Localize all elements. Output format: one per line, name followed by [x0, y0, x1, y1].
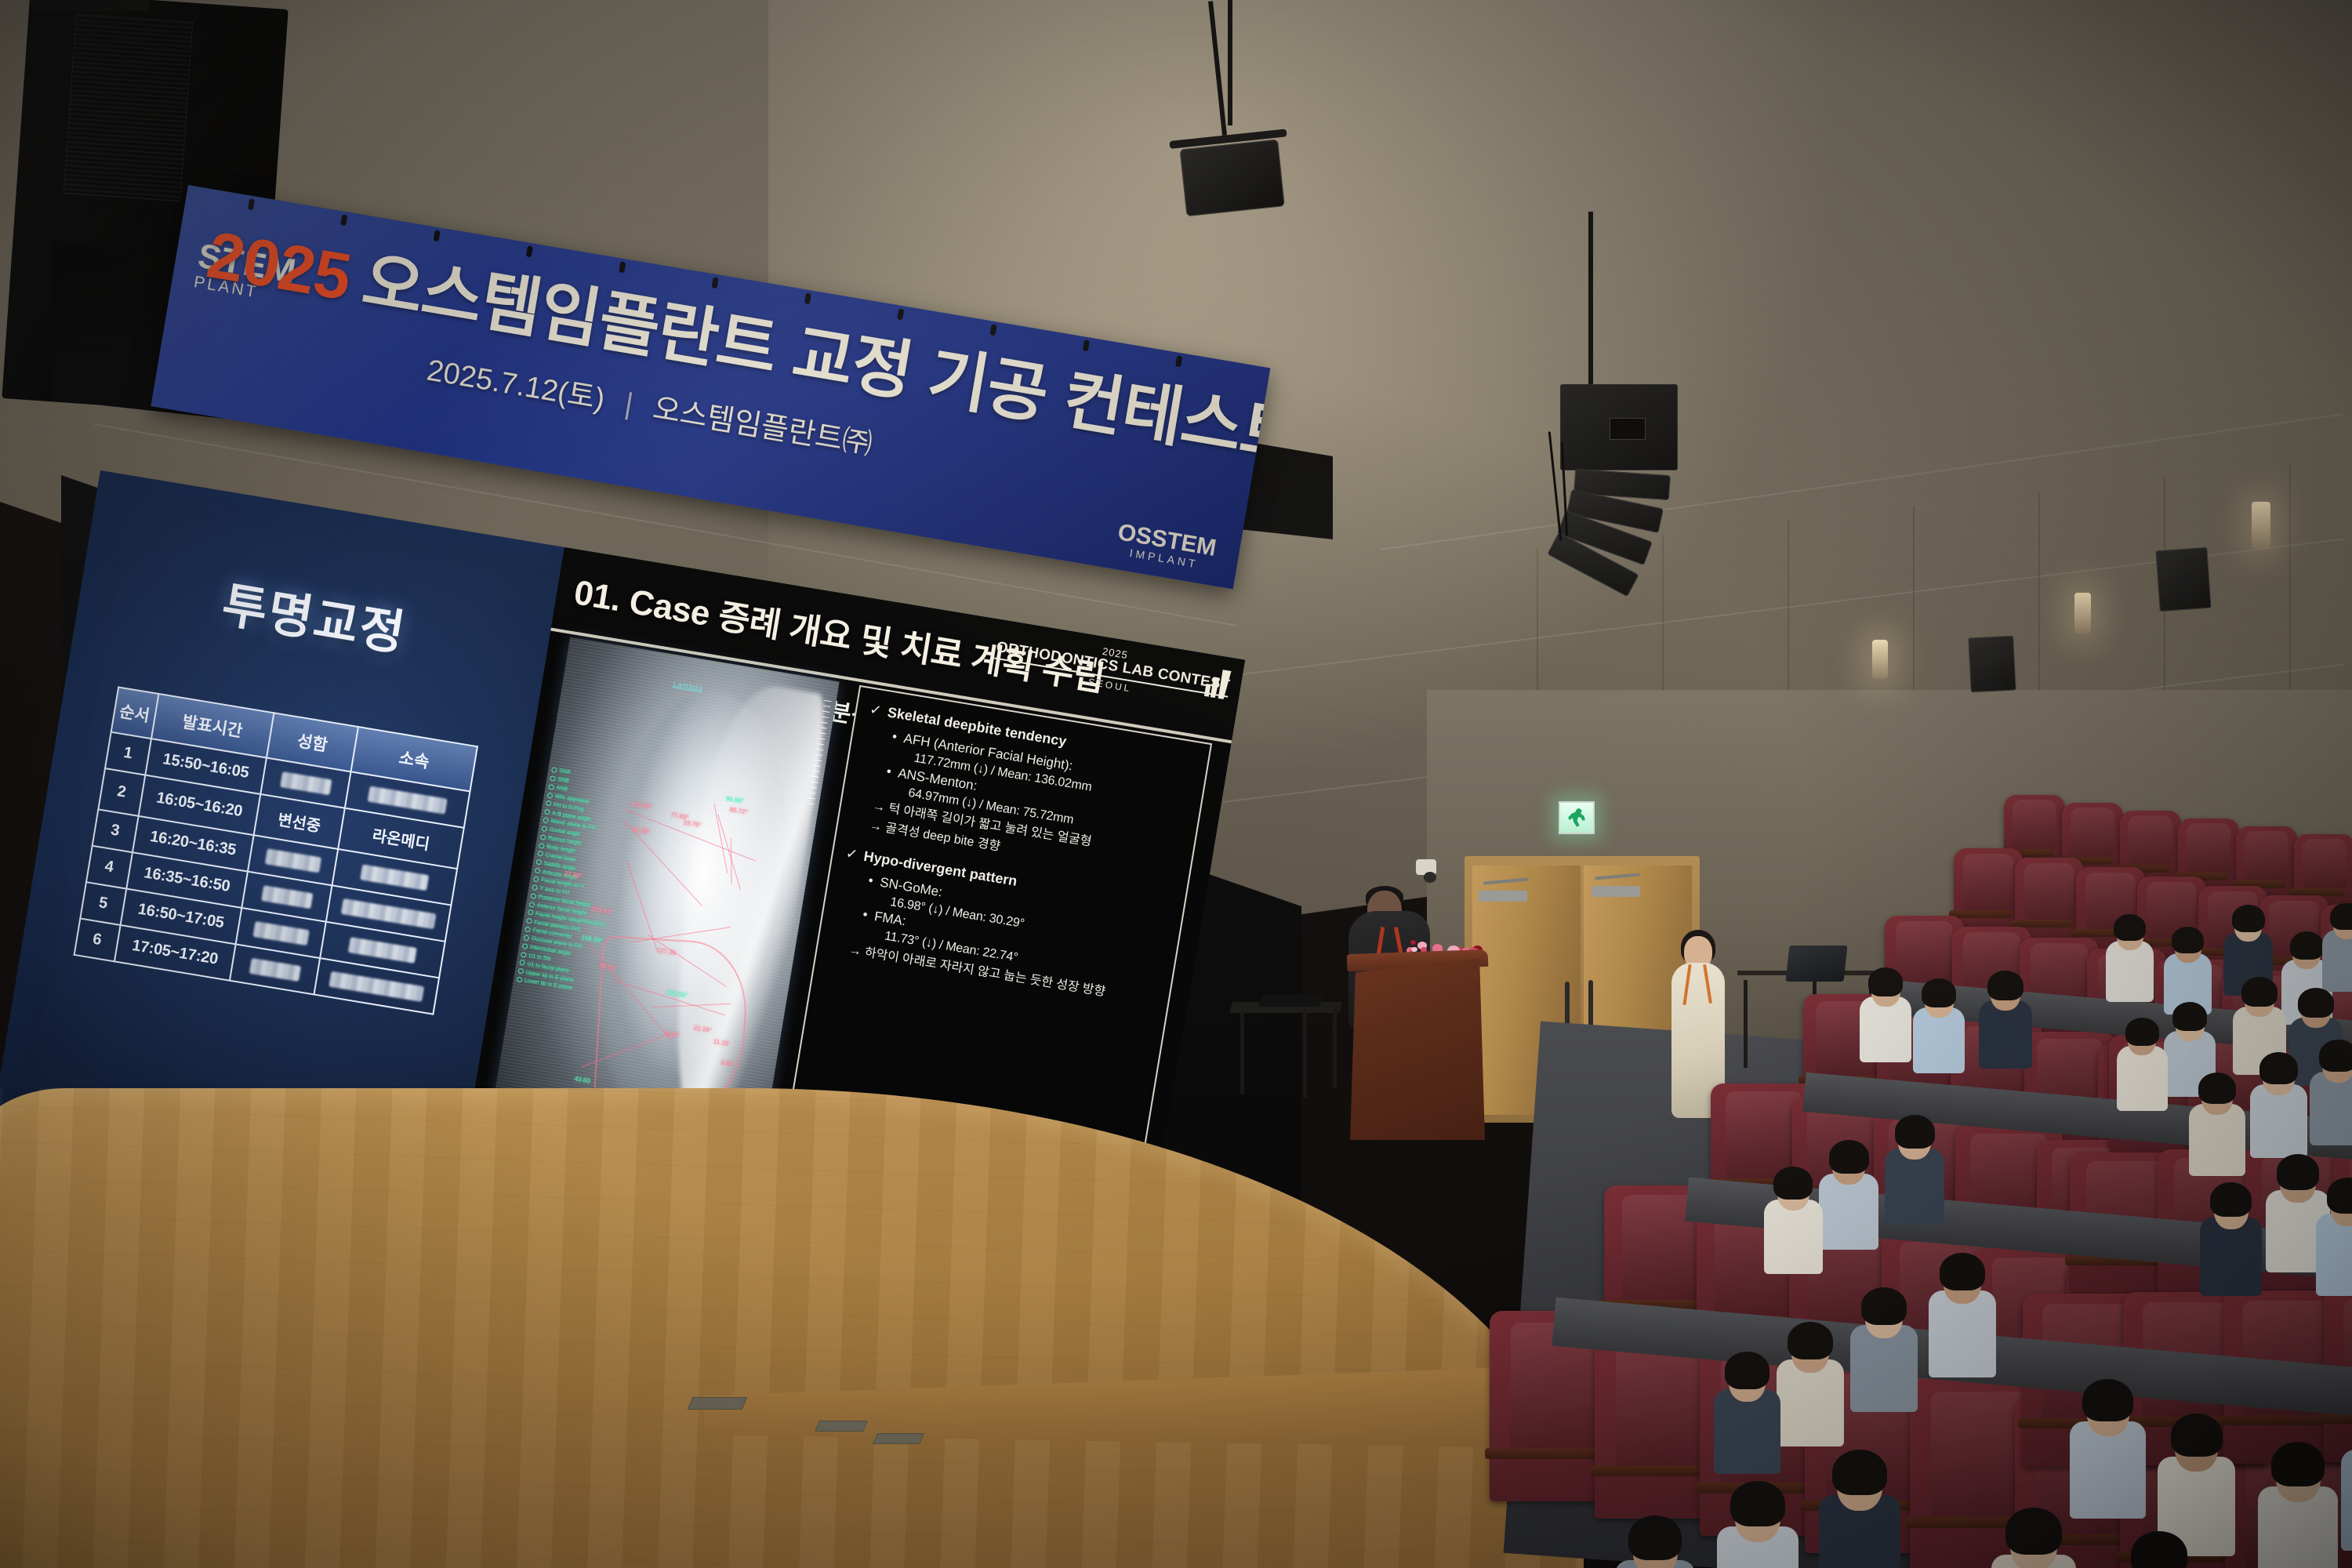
check-icon: ✓ [869, 702, 883, 719]
bullet-dot-icon: • [867, 873, 874, 888]
measure-dot-icon [548, 784, 554, 790]
measure-dot-icon [528, 909, 534, 916]
redacted-text [280, 771, 332, 795]
audience-hair [1895, 1115, 1935, 1148]
measure-dot-icon [537, 851, 543, 857]
banner-logo-left-main: STEM [195, 238, 299, 291]
wall-panel-seam [2289, 464, 2291, 699]
audience-hair [1829, 1140, 1869, 1173]
audience-hair [2330, 903, 2352, 930]
line-array-speaker [1537, 384, 1717, 604]
trophy-mark-icon [1200, 666, 1233, 713]
subwoofer-cabinet [1560, 384, 1678, 470]
audience-hair [1987, 971, 2024, 1000]
banner-date: 2025.7.12(토) [424, 354, 607, 416]
redacted-text [252, 921, 309, 946]
banner-pin [897, 308, 904, 320]
xray-trace-line [731, 837, 732, 884]
measure-dot-icon [522, 943, 528, 949]
wall-speaker [1968, 636, 2016, 693]
banner-logo-right-main: OSSTEM [1116, 519, 1218, 561]
banner-logo-right: OSSTEM IMPLANT [1114, 519, 1218, 573]
subwoofer-port [1610, 418, 1646, 440]
wall-sensor-head [1424, 872, 1436, 883]
audience-hair [1725, 1352, 1769, 1388]
bullet-dot-icon: • [885, 764, 892, 779]
speaker-grill [64, 13, 194, 201]
banner-pin [989, 324, 996, 336]
measure-dot-icon [524, 926, 531, 932]
banner-pin [711, 277, 718, 289]
audience-hair [2271, 1442, 2325, 1486]
schedule-cell-order: 3 [93, 809, 139, 852]
side-table-leg [1333, 1007, 1337, 1088]
banner-pin [526, 245, 533, 257]
audience-hair [2172, 1002, 2207, 1031]
banner-host: 오스템임플란트㈜ [651, 392, 875, 462]
audience-hair [2114, 914, 2146, 941]
running-man-icon [1566, 808, 1587, 828]
audience-hair [2005, 1508, 2062, 1555]
measure-dot-icon [517, 968, 524, 975]
measure-dot-icon [528, 901, 535, 907]
schedule-title: 투명교정 [77, 542, 553, 688]
audience-hair [2298, 988, 2334, 1018]
banner-divider: | [622, 387, 636, 421]
light-head [1180, 140, 1285, 217]
audience-hair [1861, 1287, 1907, 1325]
audience-hair [1922, 978, 1956, 1007]
measure-dot-icon [540, 834, 546, 840]
redacted-text [261, 885, 313, 909]
audience-torso [2117, 1046, 2168, 1111]
door-closer [1479, 891, 1527, 902]
audience-hair [2259, 1052, 2298, 1084]
audience-hair [2241, 977, 2278, 1007]
banner-pin [619, 261, 626, 273]
schedule-cell-order: 2 [98, 768, 145, 816]
redacted-text [265, 848, 321, 873]
measure-dot-icon [532, 884, 538, 891]
wall-sconce [1872, 640, 1888, 679]
measure-dot-icon [517, 977, 523, 983]
flower-petal [1410, 940, 1416, 945]
side-table-tray [1258, 994, 1323, 1007]
measure-dot-icon [551, 767, 557, 773]
bullet-dot-icon: • [891, 729, 898, 745]
banner-pin [1083, 339, 1090, 351]
banner-logo-right-sub: IMPLANT [1114, 544, 1214, 572]
audience-hair [2277, 1154, 2320, 1190]
audience-hair [2172, 927, 2204, 953]
measure-dot-icon [543, 817, 549, 823]
audience-hair [1940, 1253, 1985, 1290]
banner-pin [434, 230, 441, 241]
check-icon: ✓ [845, 845, 859, 862]
banner-logo-left: STEM PLANT [193, 238, 299, 307]
seat-armrest [1949, 910, 2011, 919]
audience-hair [1832, 1450, 1887, 1495]
measure-dot-icon [539, 842, 545, 848]
side-table-leg [1240, 1011, 1244, 1094]
measure-dot-icon [533, 876, 539, 882]
stage-moving-light [1163, 111, 1299, 234]
measure-dot-icon [521, 952, 527, 958]
audience-hair [1773, 1167, 1813, 1200]
audience-hair [2290, 931, 2324, 960]
measure-dot-icon [535, 859, 542, 866]
wall-sconce [2074, 593, 2091, 633]
speaker-rigging [31, 0, 149, 11]
measure-dot-icon [526, 918, 532, 924]
measure-dot-icon [519, 960, 525, 966]
audience-hair [2232, 905, 2265, 932]
redacted-text [360, 864, 429, 891]
measure-dot-icon [546, 800, 552, 807]
redacted-text [249, 958, 301, 982]
audience-hair [1730, 1481, 1785, 1526]
audience-torso [1885, 1149, 1944, 1225]
banner-pin [1175, 355, 1182, 367]
av-table-leg [1744, 980, 1748, 1068]
audience-torso [1764, 1200, 1823, 1275]
side-table-leg [1303, 1010, 1307, 1098]
stage-side-table [1231, 1002, 1341, 1094]
door-closer [1592, 886, 1640, 897]
audience-hair [1788, 1322, 1833, 1359]
light-drop-pole [1228, 0, 1232, 125]
measure-dot-icon [523, 935, 529, 941]
schedule-cell-order: 1 [105, 732, 151, 775]
av-laptop[interactable] [1786, 946, 1848, 982]
audience-hair [1868, 967, 1903, 996]
measure-dot-icon [550, 775, 556, 782]
redacted-text [368, 786, 448, 814]
audience-hair [2319, 1040, 2352, 1072]
audience-torso [1819, 1174, 1878, 1250]
measure-dot-icon [544, 809, 550, 815]
schedule-cell-order: 5 [80, 882, 126, 925]
banner-logo-left-sub: PLANT [193, 274, 293, 307]
wall-sconce [2252, 502, 2270, 549]
schedule-table: 순서발표시간성함소속 115:50~16:05216:05~16:20변선중라온… [73, 686, 478, 1014]
bullet-dot-icon: • [862, 907, 869, 923]
stage-floor-box [688, 1397, 747, 1410]
auditorium-photo: STEM PLANT 2025오스템임플란트 교정 기공 컨테스트 2025.7… [0, 0, 2352, 1568]
measure-dot-icon [547, 792, 554, 798]
banner-year: 2025 [202, 217, 356, 314]
redacted-text [348, 937, 417, 964]
speaker-drop-pole [1588, 212, 1593, 392]
schedule-cell-order: 6 [74, 918, 121, 961]
measure-dot-icon [541, 826, 547, 832]
stage-floor-box [873, 1433, 924, 1444]
audience-hair [2171, 1414, 2223, 1457]
wall-speaker [2155, 547, 2211, 612]
audience-hair [2210, 1182, 2252, 1217]
measure-dot-icon [535, 868, 541, 874]
banner-pin [248, 198, 255, 210]
audience-torso [2310, 1072, 2352, 1145]
audience-hair [2082, 1379, 2133, 1421]
audience-torso [2341, 1450, 2352, 1551]
redacted-text [341, 898, 437, 929]
redacted-text [329, 971, 425, 1001]
schedule-col-header-0: 순서 [111, 687, 158, 739]
podium [1350, 958, 1485, 1140]
measure-dot-icon [530, 893, 536, 899]
schedule-cell-order: 4 [86, 846, 132, 889]
audience-hair [2125, 1018, 2159, 1046]
stage-floor-box [815, 1421, 868, 1432]
audience-hair [2198, 1073, 2236, 1104]
audience-hair [1628, 1515, 1682, 1560]
banner-pin [340, 214, 347, 226]
banner-pin [804, 292, 811, 304]
emergency-exit-sign [1559, 801, 1595, 834]
